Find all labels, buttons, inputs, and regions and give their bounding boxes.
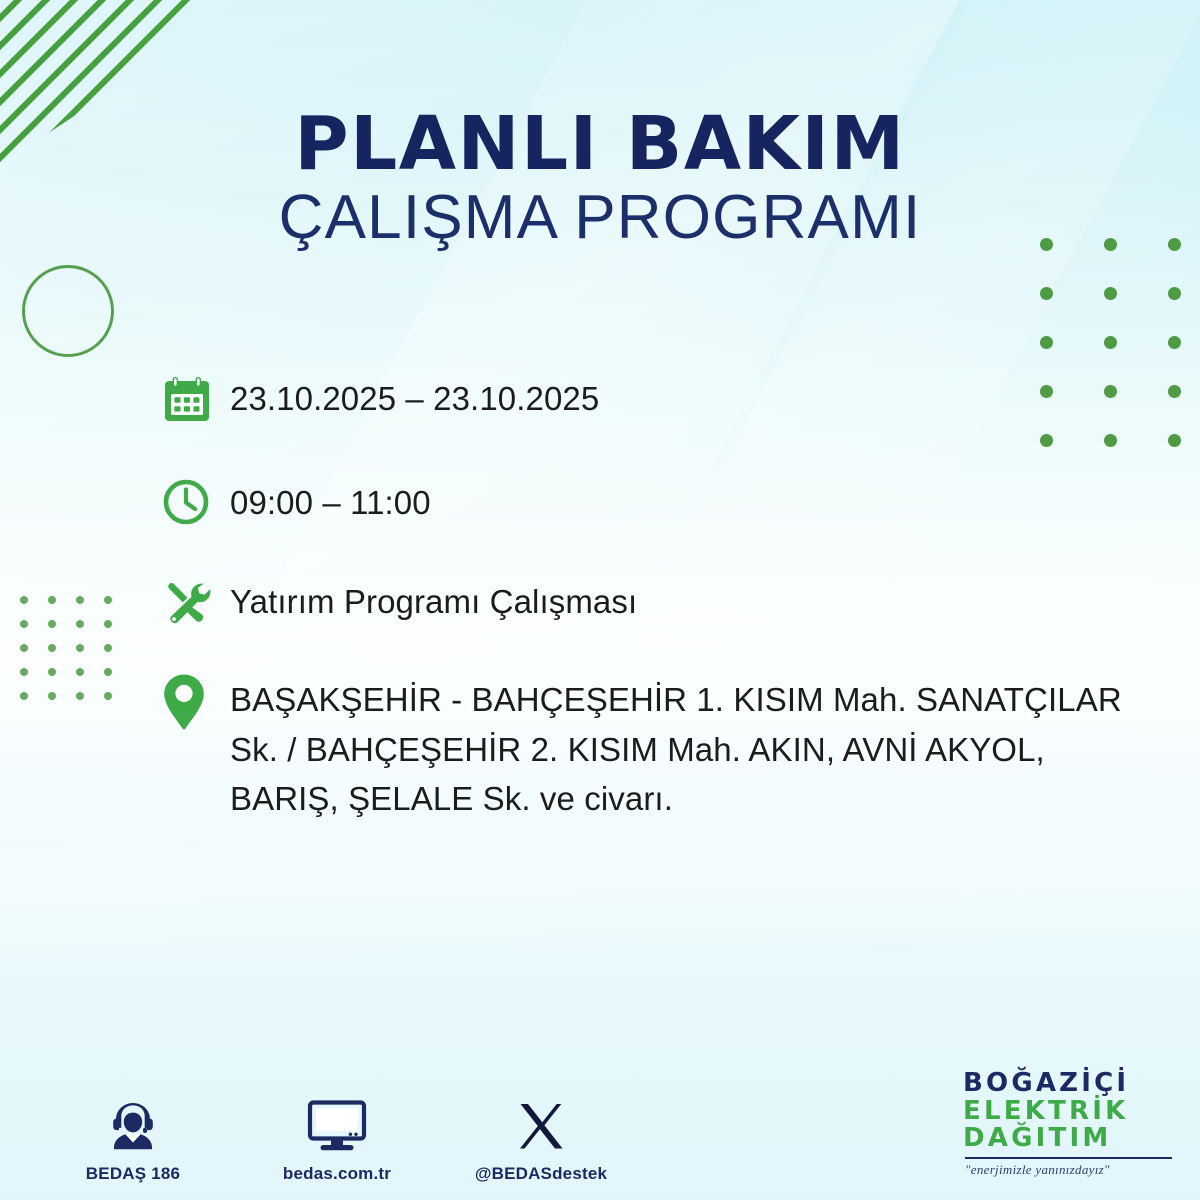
poster-header: PLANLI BAKIM ÇALIŞMA PROGRAMI bbox=[0, 108, 1200, 249]
work-type-text: Yatırım Programı Çalışması bbox=[230, 575, 1162, 626]
page-title: PLANLI BAKIM bbox=[0, 108, 1200, 181]
decorative-circle bbox=[22, 265, 114, 357]
date-range-text: 23.10.2025 – 23.10.2025 bbox=[230, 372, 1162, 423]
contact-phone[interactable]: BEDAŞ 186 bbox=[58, 1092, 208, 1184]
dot-grid-left-decoration bbox=[20, 596, 132, 716]
page-subtitle: ÇALIŞMA PROGRAMI bbox=[0, 187, 1200, 249]
detail-row-date: 23.10.2025 – 23.10.2025 bbox=[162, 372, 1162, 436]
brand-line-2: ELEKTRİK bbox=[963, 1098, 1178, 1126]
contact-social-x[interactable]: @BEDASdestek bbox=[466, 1092, 616, 1184]
contact-phone-label: BEDAŞ 186 bbox=[58, 1164, 208, 1184]
calendar-icon bbox=[162, 372, 230, 436]
contact-website[interactable]: bedas.com.tr bbox=[262, 1092, 412, 1184]
contact-channels: BEDAŞ 186 bedas.com.tr bbox=[58, 1092, 616, 1184]
time-range-text: 09:00 – 11:00 bbox=[230, 476, 1162, 527]
poster-footer: BEDAŞ 186 bedas.com.tr bbox=[0, 1030, 1200, 1200]
tools-icon bbox=[162, 575, 230, 639]
poster-canvas: PLANLI BAKIM ÇALIŞMA PROGRAMI bbox=[0, 0, 1200, 1200]
brand-line-3: DAĞITIM bbox=[963, 1125, 1178, 1153]
brand-tagline: "enerjimizle yanınızdayız" bbox=[965, 1162, 1178, 1178]
address-text: BAŞAKŞEHİR - BAHÇEŞEHİR 1. KISIM Mah. SA… bbox=[230, 671, 1162, 824]
brand-line-1: BOĞAZİÇİ bbox=[963, 1070, 1178, 1098]
contact-social-label: @BEDASdestek bbox=[466, 1164, 616, 1184]
brand-divider bbox=[965, 1157, 1172, 1159]
brand-logo: BOĞAZİÇİ ELEKTRİK DAĞITIM "enerjimizle y… bbox=[963, 1070, 1178, 1178]
monitor-icon bbox=[262, 1092, 412, 1154]
contact-website-label: bedas.com.tr bbox=[262, 1164, 412, 1184]
detail-row-time: 09:00 – 11:00 bbox=[162, 476, 1162, 540]
detail-row-work-type: Yatırım Programı Çalışması bbox=[162, 575, 1162, 639]
details-list: 23.10.2025 – 23.10.2025 09:00 – 11:00 bbox=[162, 372, 1162, 824]
clock-icon bbox=[162, 476, 230, 540]
location-pin-icon bbox=[162, 671, 230, 735]
headset-support-icon bbox=[58, 1092, 208, 1154]
detail-row-address: BAŞAKŞEHİR - BAHÇEŞEHİR 1. KISIM Mah. SA… bbox=[162, 671, 1162, 824]
x-social-icon bbox=[466, 1092, 616, 1154]
